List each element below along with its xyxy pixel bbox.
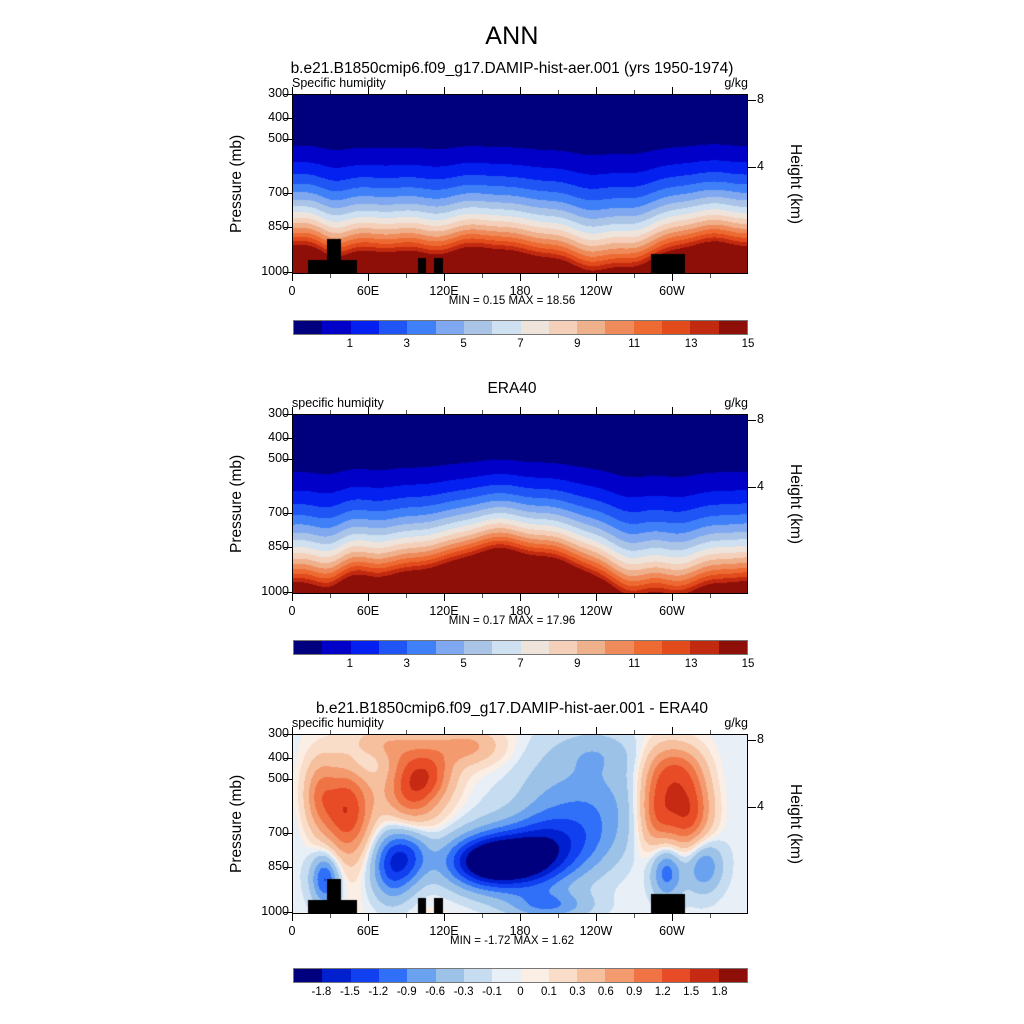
contour-field	[293, 415, 747, 593]
y-tick-label: 700	[245, 505, 289, 519]
y-tick-label: 300	[245, 406, 289, 420]
y-tick-mark-right	[748, 740, 756, 741]
y-tick-mark	[284, 513, 292, 514]
x-minor-tick-top	[634, 410, 635, 414]
x-minor-tick	[482, 594, 483, 598]
x-tick-mark-top	[292, 727, 293, 734]
x-tick-label: 0	[262, 924, 322, 938]
y-tick-mark	[284, 227, 292, 228]
colorbar-segment	[407, 641, 435, 654]
x-tick-mark	[292, 914, 293, 921]
colorbar-tick-label: 1.8	[700, 986, 740, 998]
x-minor-tick	[482, 274, 483, 278]
colorbar-segment	[719, 969, 747, 982]
contour-field	[293, 95, 747, 273]
y-tick-mark	[284, 734, 292, 735]
colorbar-tick-label: 1	[330, 338, 370, 350]
x-tick-mark	[368, 594, 369, 601]
y-tick-mark-right	[748, 167, 756, 168]
x-tick-mark-top	[368, 87, 369, 94]
x-tick-mark	[368, 914, 369, 921]
x-minor-tick	[330, 594, 331, 598]
colorbar-labels: 13579111315	[293, 338, 748, 356]
colorbar[interactable]	[293, 640, 748, 655]
y-tick-mark-right	[748, 100, 756, 101]
colorbar-segment	[464, 641, 492, 654]
x-minor-tick-top	[482, 410, 483, 414]
plot-area[interactable]	[292, 414, 748, 594]
colorbar-tick-label: 1	[330, 658, 370, 670]
x-tick-label: 120W	[566, 604, 626, 618]
y-tick-mark	[284, 272, 292, 273]
x-tick-mark-top	[672, 727, 673, 734]
x-tick-mark-top	[444, 87, 445, 94]
colorbar-segment	[379, 969, 407, 982]
colorbar-tick-label: 11	[614, 338, 654, 350]
x-tick-mark	[520, 914, 521, 921]
x-tick-label: 0	[262, 284, 322, 298]
colorbar-segment	[351, 641, 379, 654]
x-tick-label: 60E	[338, 924, 398, 938]
colorbar-tick-label: 3	[387, 338, 427, 350]
colorbar-segment	[322, 969, 350, 982]
x-tick-mark	[596, 914, 597, 921]
colorbar-labels: 13579111315	[293, 658, 748, 676]
x-tick-mark-top	[444, 407, 445, 414]
y-tick-label: 850	[245, 539, 289, 553]
colorbar-tick-label: 9	[557, 658, 597, 670]
colorbar-segment	[492, 969, 520, 982]
colorbar-tick-label: 13	[671, 658, 711, 670]
colorbar-segment	[492, 321, 520, 334]
x-tick-mark-top	[596, 87, 597, 94]
y-tick-label: 500	[245, 771, 289, 785]
colorbar-tick-label: 15	[728, 338, 768, 350]
colorbar-segment	[577, 969, 605, 982]
x-tick-mark-top	[368, 727, 369, 734]
x-tick-label: 120E	[414, 284, 474, 298]
figure-title: ANN	[0, 22, 1024, 51]
colorbar-segment	[719, 321, 747, 334]
colorbar-segment	[549, 969, 577, 982]
x-minor-tick-top	[482, 730, 483, 734]
colorbar-segment	[436, 641, 464, 654]
y-tick-label: 500	[245, 131, 289, 145]
colorbar-segment	[690, 969, 718, 982]
colorbar-tick-label: 5	[444, 658, 484, 670]
x-minor-tick	[482, 914, 483, 918]
y-axis-label-right: Height (km)	[786, 752, 804, 896]
x-minor-tick-top	[634, 730, 635, 734]
y-tick-mark	[284, 94, 292, 95]
x-tick-mark-top	[520, 727, 521, 734]
x-minor-tick	[406, 274, 407, 278]
x-tick-mark	[520, 594, 521, 601]
x-tick-mark-top	[596, 727, 597, 734]
colorbar-tick-label: 13	[671, 338, 711, 350]
x-minor-tick	[558, 594, 559, 598]
x-minor-tick-top	[330, 410, 331, 414]
y-tick-label: 1000	[245, 264, 289, 278]
colorbar-segment	[662, 969, 690, 982]
x-tick-mark	[672, 274, 673, 281]
colorbar-segment	[690, 321, 718, 334]
y-tick-mark	[284, 139, 292, 140]
colorbar-segment	[549, 641, 577, 654]
x-minor-tick	[710, 914, 711, 918]
x-tick-mark-top	[368, 407, 369, 414]
colorbar-segment	[436, 321, 464, 334]
x-tick-mark-top	[672, 87, 673, 94]
colorbar[interactable]	[293, 968, 748, 983]
y-tick-label: 850	[245, 219, 289, 233]
y-tick-label-right: 4	[757, 479, 787, 493]
y-tick-mark-right	[748, 420, 756, 421]
colorbar-segment	[521, 969, 549, 982]
colorbar-segment	[379, 321, 407, 334]
x-tick-mark	[292, 274, 293, 281]
colorbar-segment	[719, 641, 747, 654]
y-tick-mark	[284, 758, 292, 759]
y-tick-mark	[284, 779, 292, 780]
x-tick-label: 60E	[338, 604, 398, 618]
y-tick-label: 700	[245, 825, 289, 839]
colorbar-segment	[662, 321, 690, 334]
y-tick-mark	[284, 912, 292, 913]
y-tick-mark	[284, 459, 292, 460]
x-tick-label: 120E	[414, 604, 474, 618]
x-tick-label: 0	[262, 604, 322, 618]
x-tick-mark	[596, 274, 597, 281]
x-minor-tick-top	[710, 730, 711, 734]
x-minor-tick-top	[406, 730, 407, 734]
y-axis-label-right: Height (km)	[786, 112, 804, 256]
colorbar-segment	[294, 969, 322, 982]
colorbar-segment	[634, 321, 662, 334]
x-tick-label: 180	[490, 284, 550, 298]
colorbar-tick-label: 11	[614, 658, 654, 670]
colorbar-segment	[605, 321, 633, 334]
plot-area[interactable]	[292, 734, 748, 914]
colorbar-segment	[492, 641, 520, 654]
x-minor-tick-top	[482, 90, 483, 94]
colorbar-labels: -1.8-1.5-1.2-0.9-0.6-0.3-0.100.10.30.60.…	[293, 986, 748, 1004]
panel-units-label: g/kg	[0, 396, 748, 410]
colorbar-segment	[322, 321, 350, 334]
y-tick-label: 850	[245, 859, 289, 873]
plot-frame	[292, 734, 748, 914]
colorbar-segment	[294, 321, 322, 334]
x-minor-tick-top	[330, 90, 331, 94]
x-tick-mark-top	[520, 87, 521, 94]
x-tick-mark	[596, 594, 597, 601]
y-tick-label-right: 4	[757, 799, 787, 813]
x-minor-tick-top	[710, 90, 711, 94]
x-tick-mark	[444, 274, 445, 281]
colorbar-segment	[407, 969, 435, 982]
x-tick-mark-top	[672, 407, 673, 414]
x-minor-tick	[558, 914, 559, 918]
x-minor-tick	[710, 594, 711, 598]
x-minor-tick-top	[406, 90, 407, 94]
x-minor-tick	[634, 594, 635, 598]
x-minor-tick	[330, 274, 331, 278]
y-tick-mark	[284, 414, 292, 415]
y-tick-mark-right	[748, 807, 756, 808]
x-tick-mark	[444, 594, 445, 601]
colorbar-segment	[351, 969, 379, 982]
x-minor-tick-top	[558, 730, 559, 734]
colorbar-segment	[407, 321, 435, 334]
colorbar-segment	[351, 321, 379, 334]
y-axis-label-right: Height (km)	[786, 432, 804, 576]
colorbar-tick-label: 15	[728, 658, 768, 670]
colorbar-segment	[634, 641, 662, 654]
figure-canvas: ANN b.e21.B1850cmip6.f09_g17.DAMIP-hist-…	[0, 0, 1024, 1024]
plot-frame	[292, 414, 748, 594]
x-minor-tick	[406, 594, 407, 598]
y-tick-label-right: 8	[757, 412, 787, 426]
colorbar-segment	[379, 641, 407, 654]
x-minor-tick-top	[558, 90, 559, 94]
x-tick-mark	[672, 914, 673, 921]
colorbar-segment	[577, 321, 605, 334]
x-tick-label: 120W	[566, 924, 626, 938]
y-tick-label: 400	[245, 750, 289, 764]
y-tick-label: 300	[245, 86, 289, 100]
panel-units-label: g/kg	[0, 76, 748, 90]
y-tick-mark	[284, 118, 292, 119]
x-minor-tick	[558, 274, 559, 278]
y-tick-label: 400	[245, 110, 289, 124]
x-tick-mark-top	[292, 87, 293, 94]
x-tick-label: 180	[490, 924, 550, 938]
colorbar-segment	[464, 321, 492, 334]
colorbar-tick-label: 7	[501, 658, 541, 670]
y-tick-mark	[284, 833, 292, 834]
colorbar-segment	[634, 969, 662, 982]
x-tick-label: 60W	[642, 924, 702, 938]
x-minor-tick-top	[406, 410, 407, 414]
colorbar-segment	[322, 641, 350, 654]
panel-units-label: g/kg	[0, 716, 748, 730]
x-tick-label: 180	[490, 604, 550, 618]
x-tick-label: 60W	[642, 604, 702, 618]
y-tick-label: 1000	[245, 584, 289, 598]
colorbar-tick-label: 3	[387, 658, 427, 670]
y-tick-label-right: 4	[757, 159, 787, 173]
y-tick-label: 500	[245, 451, 289, 465]
x-minor-tick	[634, 274, 635, 278]
colorbar[interactable]	[293, 320, 748, 335]
x-minor-tick-top	[558, 410, 559, 414]
x-tick-label: 60W	[642, 284, 702, 298]
y-axis-label-left: Pressure (mb)	[228, 112, 246, 256]
x-tick-label: 120W	[566, 284, 626, 298]
y-axis-label-left: Pressure (mb)	[228, 432, 246, 576]
x-tick-mark	[444, 914, 445, 921]
x-minor-tick	[710, 274, 711, 278]
x-minor-tick-top	[330, 730, 331, 734]
contour-field	[293, 735, 747, 913]
colorbar-segment	[662, 641, 690, 654]
colorbar-tick-label: 5	[444, 338, 484, 350]
x-minor-tick-top	[710, 410, 711, 414]
colorbar-segment	[549, 321, 577, 334]
y-tick-label: 1000	[245, 904, 289, 918]
colorbar-segment	[605, 969, 633, 982]
x-minor-tick-top	[634, 90, 635, 94]
plot-area[interactable]	[292, 94, 748, 274]
y-tick-label: 400	[245, 430, 289, 444]
colorbar-segment	[605, 641, 633, 654]
y-tick-mark	[284, 438, 292, 439]
x-tick-mark	[292, 594, 293, 601]
colorbar-segment	[464, 969, 492, 982]
x-tick-mark-top	[596, 407, 597, 414]
colorbar-segment	[521, 321, 549, 334]
colorbar-segment	[577, 641, 605, 654]
y-tick-label: 300	[245, 726, 289, 740]
colorbar-segment	[690, 641, 718, 654]
y-tick-label: 700	[245, 185, 289, 199]
x-minor-tick	[634, 914, 635, 918]
colorbar-segment	[436, 969, 464, 982]
x-minor-tick	[330, 914, 331, 918]
x-tick-mark	[368, 274, 369, 281]
x-tick-label: 120E	[414, 924, 474, 938]
x-tick-mark	[672, 594, 673, 601]
x-tick-mark	[520, 274, 521, 281]
y-tick-mark-right	[748, 487, 756, 488]
y-tick-label-right: 8	[757, 92, 787, 106]
y-tick-mark	[284, 867, 292, 868]
x-tick-label: 60E	[338, 284, 398, 298]
y-tick-mark	[284, 193, 292, 194]
plot-frame	[292, 94, 748, 274]
colorbar-tick-label: 7	[501, 338, 541, 350]
x-tick-mark-top	[292, 407, 293, 414]
y-tick-mark	[284, 547, 292, 548]
x-tick-mark-top	[444, 727, 445, 734]
y-tick-label-right: 8	[757, 732, 787, 746]
colorbar-segment	[521, 641, 549, 654]
colorbar-tick-label: 9	[557, 338, 597, 350]
x-minor-tick	[406, 914, 407, 918]
y-tick-mark	[284, 592, 292, 593]
y-axis-label-left: Pressure (mb)	[228, 752, 246, 896]
colorbar-segment	[294, 641, 322, 654]
x-tick-mark-top	[520, 407, 521, 414]
